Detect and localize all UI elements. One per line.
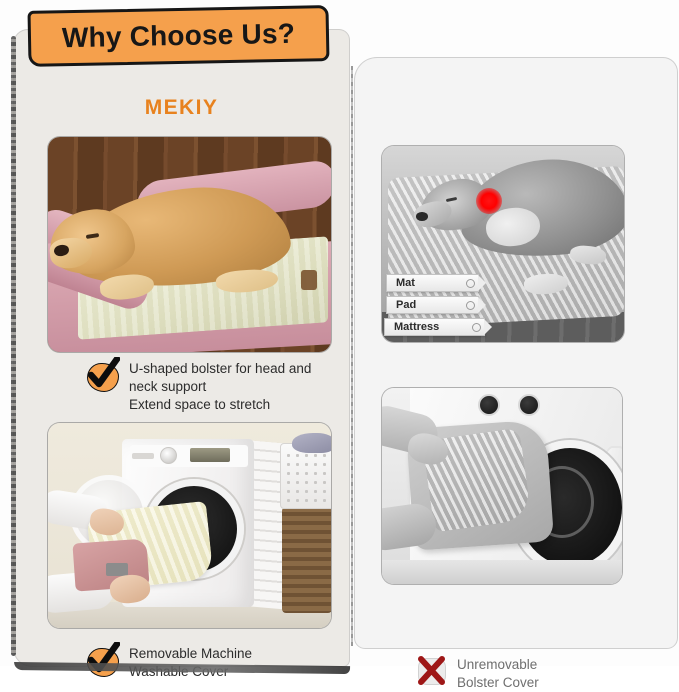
mekiy-panel: MEKIY <box>14 30 349 666</box>
bed-brand-tag <box>301 270 317 290</box>
bullet-line: Extend space to stretch <box>129 396 311 414</box>
layer-tag-pad: Pad <box>386 296 479 314</box>
washer-dials <box>478 394 554 412</box>
check-icon <box>86 645 120 677</box>
dog-nose <box>416 212 428 221</box>
bullet-text: Removable Machine Washable Cover <box>129 645 252 681</box>
bullet-line: Bolster Cover <box>457 674 539 692</box>
bullet-line: Unremovable <box>457 656 539 674</box>
wicker-basket <box>282 507 331 613</box>
panel-divider <box>351 66 353 646</box>
bullet-text: Unremovable Bolster Cover <box>457 656 539 692</box>
bullet-unremovable-cover: Unremovable Bolster Cover <box>415 656 539 692</box>
header-banner: Why Choose Us? <box>27 5 329 67</box>
washer-detergent-drawer <box>132 453 154 459</box>
cross-icon <box>415 656 449 686</box>
check-icon <box>86 360 120 392</box>
bullet-line: Removable Machine <box>129 645 252 663</box>
layer-tag-mat: Mat <box>386 274 479 292</box>
neck-pain-marker <box>476 188 502 214</box>
header-title: Why Choose Us? <box>62 18 296 54</box>
bullet-line: neck support <box>129 378 311 396</box>
washer-display <box>190 448 230 462</box>
infographic-canvas: MEKIY <box>0 0 679 666</box>
bullet-text: U-shaped bolster for head and neck suppo… <box>129 360 311 414</box>
photo-removable-cover-into-washing-machine <box>48 423 331 628</box>
washer-base-ledge <box>382 560 622 584</box>
cover-label-patch <box>106 563 128 576</box>
washer-dial <box>160 447 177 464</box>
basket-perforations <box>284 451 330 505</box>
laundry-pile <box>292 433 331 453</box>
layer-tag-mattress: Mattress <box>384 318 485 336</box>
others-panel: OTHERS Mat Pad Mattress <box>355 58 677 648</box>
bullet-u-shaped-bolster: U-shaped bolster for head and neck suppo… <box>86 360 311 414</box>
photo-whole-bed-into-washing-machine <box>382 388 622 584</box>
photo-golden-retriever-on-pink-bolster-bed <box>48 137 331 352</box>
bullet-line: U-shaped bolster for head and <box>129 360 311 378</box>
bullet-removable-washable-cover: Removable Machine Washable Cover <box>86 645 252 681</box>
brand-name: MEKIY <box>14 96 349 120</box>
photo-grey-dog-on-flat-mat: Mat Pad Mattress <box>382 146 624 342</box>
